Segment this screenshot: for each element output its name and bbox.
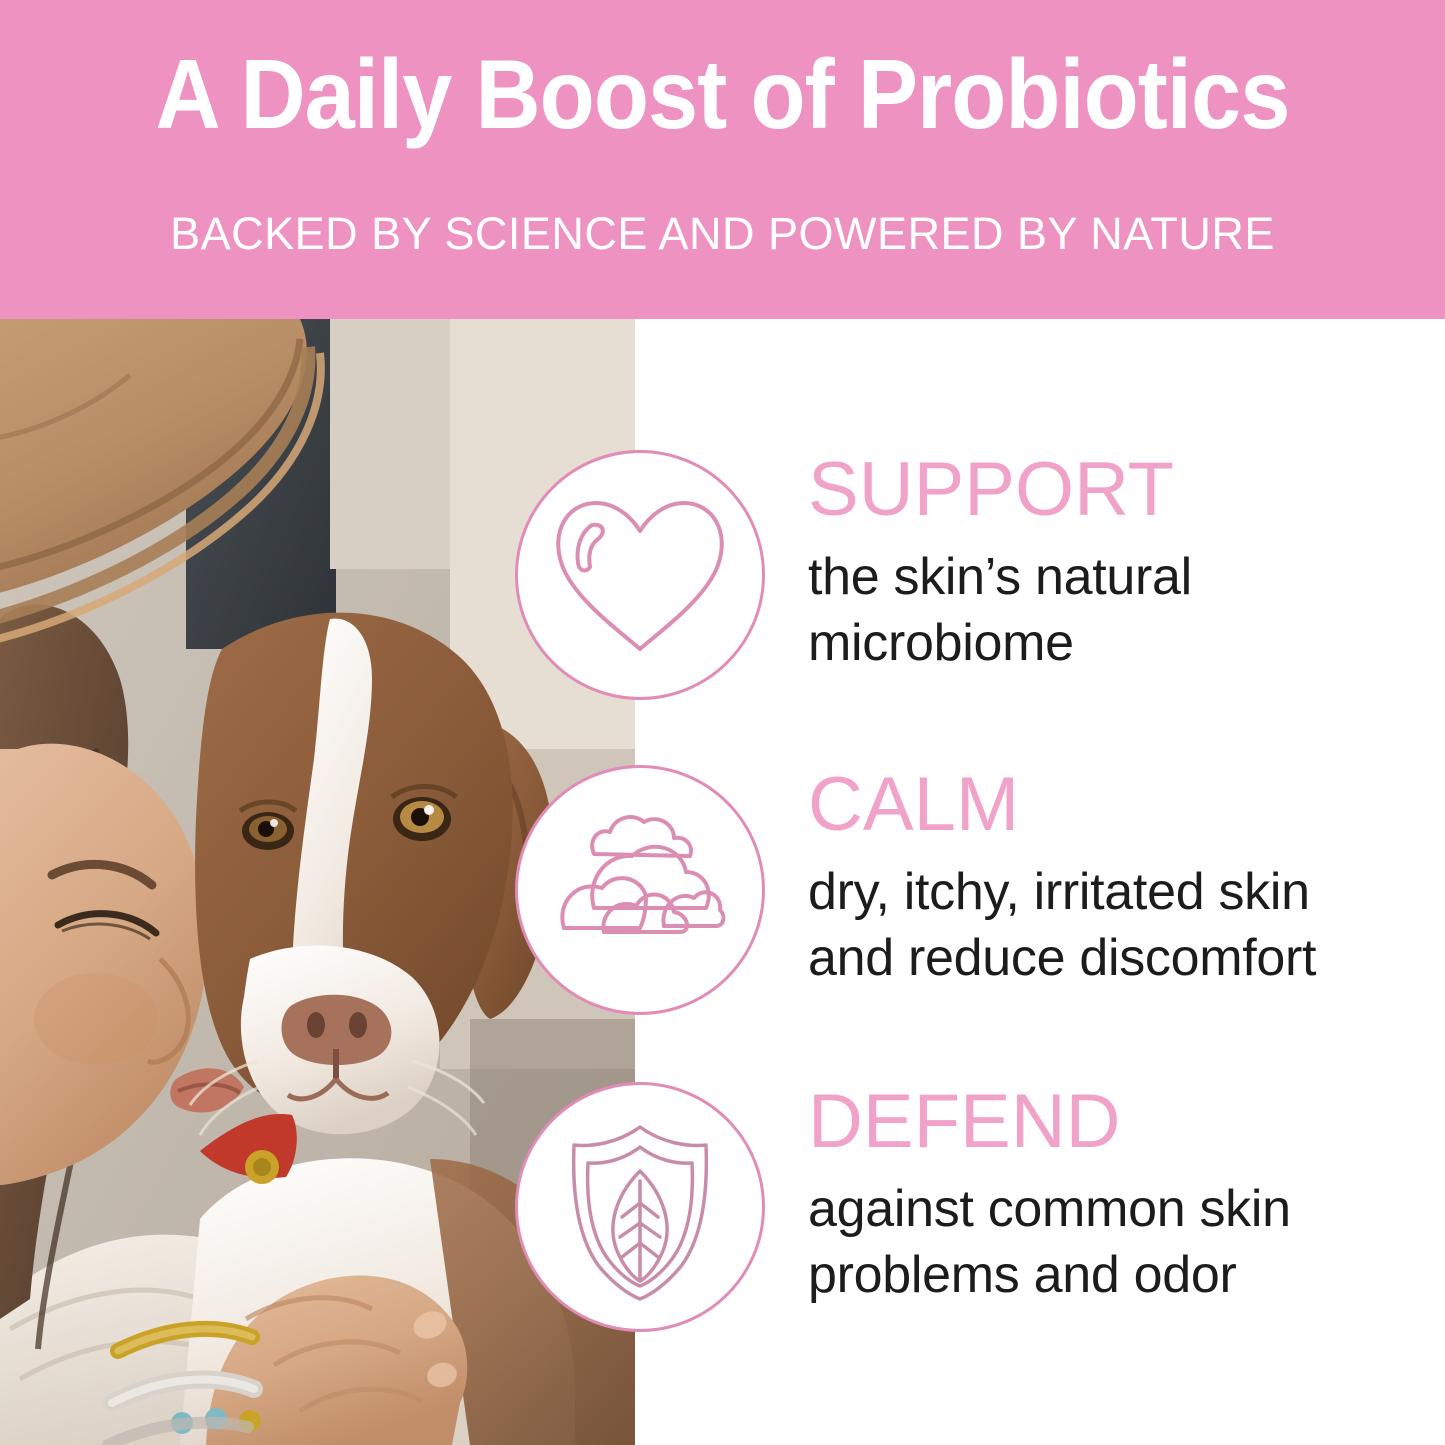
benefit-icon-badge-defend <box>515 1082 765 1332</box>
page-subtitle: BACKED BY SCIENCE AND POWERED BY NATURE <box>0 208 1445 260</box>
benefit-description-line: microbiome <box>808 610 1428 676</box>
benefit-description-line: and reduce discomfort <box>808 925 1428 991</box>
benefit-text-calm: CALM dry, itchy, irritated skin and redu… <box>808 765 1428 991</box>
benefit-text-defend: DEFEND against common skin problems and … <box>808 1082 1428 1308</box>
header-band: A Daily Boost of Probiotics BACKED BY SC… <box>0 0 1445 319</box>
benefit-description-line: dry, itchy, irritated skin <box>808 859 1428 925</box>
heart-icon <box>518 453 762 697</box>
benefit-row-calm: CALM dry, itchy, irritated skin and redu… <box>0 765 1445 1019</box>
infographic-canvas: A Daily Boost of Probiotics BACKED BY SC… <box>0 0 1445 1445</box>
benefit-row-support: SUPPORT the skin’s natural microbiome <box>0 450 1445 704</box>
benefit-title-defend: DEFEND <box>808 1082 1428 1162</box>
benefit-icon-badge-support <box>515 450 765 700</box>
benefit-description-defend: against common skin problems and odor <box>808 1176 1428 1308</box>
benefit-row-defend: DEFEND against common skin problems and … <box>0 1082 1445 1336</box>
benefit-description-line: the skin’s natural <box>808 544 1428 610</box>
benefit-description-support: the skin’s natural microbiome <box>808 544 1428 676</box>
benefit-title-calm: CALM <box>808 765 1428 845</box>
benefit-icon-badge-calm <box>515 765 765 1015</box>
benefit-description-line: against common skin <box>808 1176 1428 1242</box>
benefit-title-support: SUPPORT <box>808 450 1428 530</box>
shield-leaf-icon <box>518 1085 762 1329</box>
page-title: A Daily Boost of Probiotics <box>58 42 1387 146</box>
benefit-description-line: problems and odor <box>808 1242 1428 1308</box>
benefit-text-support: SUPPORT the skin’s natural microbiome <box>808 450 1428 676</box>
clouds-icon <box>518 768 762 1012</box>
benefit-description-calm: dry, itchy, irritated skin and reduce di… <box>808 859 1428 991</box>
